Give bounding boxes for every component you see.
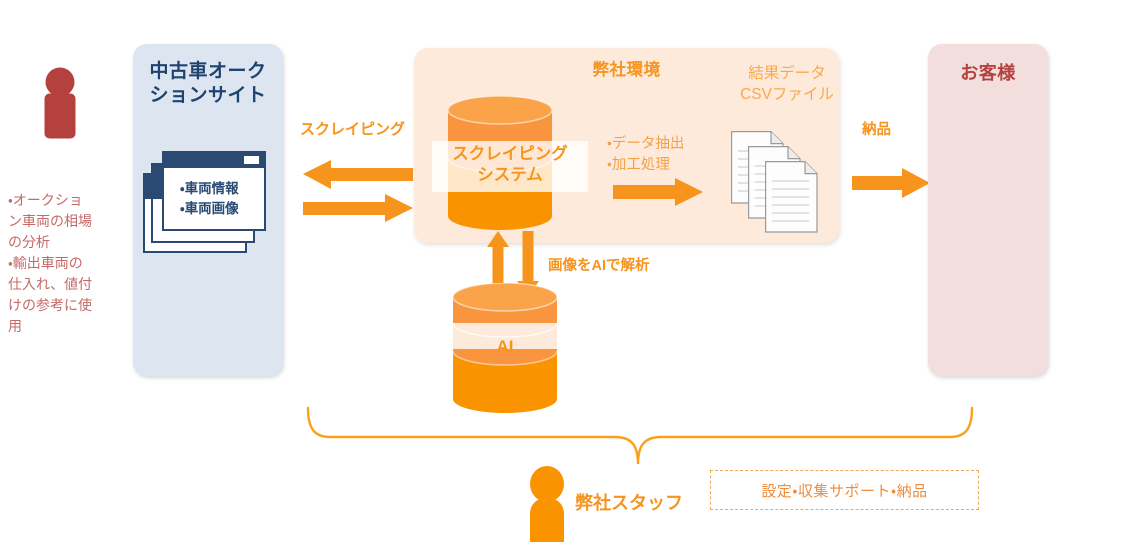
scraping-system-label: スクレイピング システム	[432, 141, 588, 192]
bullet-data-extraction: ・データ抽出	[607, 134, 684, 155]
csv-result-title-line1: 結果データ	[726, 63, 848, 84]
scraping-arrow-label: スクレイピング	[300, 118, 405, 139]
scraping-system-label-line2: システム	[432, 165, 588, 186]
browser-window-button-icon	[244, 156, 259, 164]
support-scope-box: 設定・収集サポート・納品	[710, 470, 979, 510]
auction-site-panel: 中古車オーク ションサイト ・車両情報 ・車両画像	[133, 44, 283, 376]
scraping-system-label-line1: スクレイピング	[432, 144, 588, 165]
browser-window-front: ・車両情報 ・車両画像	[162, 151, 266, 231]
extract-arrow-icon	[613, 178, 703, 206]
browser-window-stack: ・車両情報 ・車両画像	[143, 151, 273, 261]
auction-site-title-line1: 中古車オーク	[133, 60, 283, 84]
vehicle-image-item: ・車両画像	[180, 199, 264, 219]
csv-file-stack-icon	[731, 131, 829, 233]
customer-panel: お客様	[928, 44, 1048, 376]
browser-content: ・車両情報 ・車両画像	[162, 168, 266, 231]
csv-result-title: 結果データ CSVファイル	[726, 63, 848, 106]
bullet-data-processing: ・加工処理	[607, 155, 684, 176]
delivery-arrow-label: 納品	[862, 118, 891, 139]
diagram-canvas: 中古車オーク ションサイト ・車両情報 ・車両画像 スクレイピング	[0, 0, 1140, 556]
processing-bullet-list: ・データ抽出 ・加工処理	[607, 134, 684, 176]
staff-label: 弊社スタッフ	[575, 489, 683, 515]
scraping-bidirectional-arrow-icon	[303, 160, 413, 222]
customer-person-icon	[28, 62, 92, 146]
support-scope-text: 設定・収集サポート・納品	[761, 480, 927, 501]
staff-scope-brace-icon	[305, 406, 975, 468]
customer-title: お客様	[928, 62, 1048, 85]
delivery-arrow-icon	[852, 168, 930, 198]
staff-person-icon	[519, 466, 575, 542]
csv-result-title-line2: CSVファイル	[726, 84, 848, 105]
ai-analysis-arrow-label: 画像をAIで解析	[548, 254, 650, 275]
vehicle-info-item: ・車両情報	[180, 179, 264, 199]
auction-site-title: 中古車オーク ションサイト	[133, 60, 283, 109]
auction-site-title-line2: ションサイト	[133, 84, 283, 108]
customer-usage-notes: ・オークショ ン車両の相場 の分析 ・輸出車両の 仕入れ、値付 けの参考に使 用	[8, 190, 114, 337]
ai-label: AI	[453, 336, 557, 358]
browser-titlebar	[162, 151, 266, 168]
